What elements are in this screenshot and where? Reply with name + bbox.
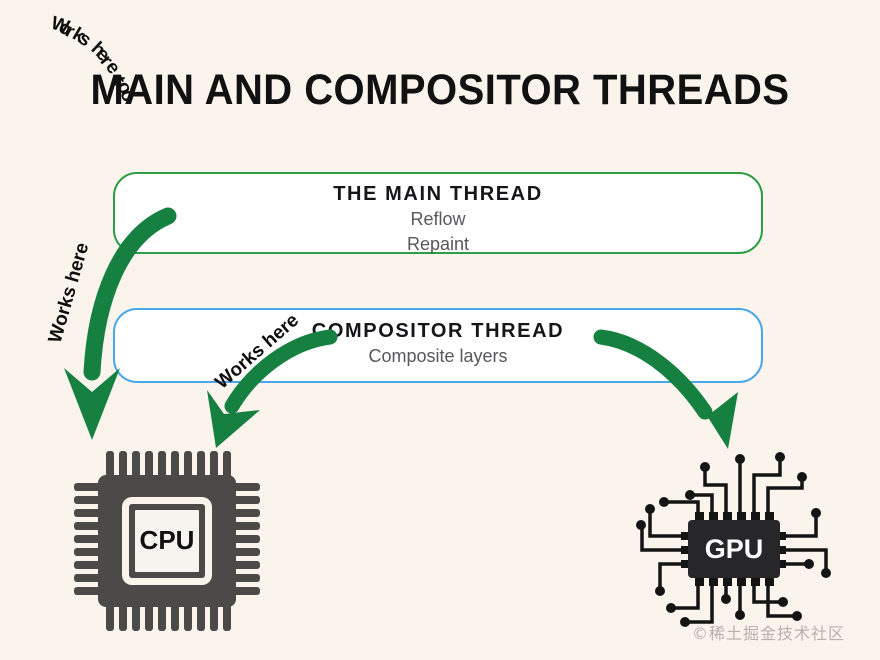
main-thread-box: THE MAIN THREAD Reflow Repaint: [113, 172, 763, 254]
diagram-canvas: MAIN AND COMPOSITOR THREADS THE MAIN THR…: [0, 0, 880, 660]
main-thread-line-2: Repaint: [115, 232, 761, 258]
cpu-chip-icon: CPU: [72, 449, 262, 633]
gpu-label: GPU: [705, 534, 764, 564]
compositor-thread-box: COMPOSITOR THREAD Composite layers: [113, 308, 763, 383]
gpu-chip-icon: GPU: [620, 440, 845, 640]
main-thread-title: THE MAIN THREAD: [115, 183, 761, 207]
watermark: ©稀土掘金技术社区: [692, 620, 845, 644]
compositor-thread-title: COMPOSITOR THREAD: [115, 320, 761, 344]
arrow-label-main-to-cpu: Works here: [45, 240, 95, 345]
page-title: MAIN AND COMPOSITOR THREADS: [31, 66, 849, 115]
cpu-label: CPU: [140, 525, 195, 555]
main-thread-line-1: Reflow: [115, 207, 761, 233]
compositor-thread-line-1: Composite layers: [115, 344, 761, 370]
